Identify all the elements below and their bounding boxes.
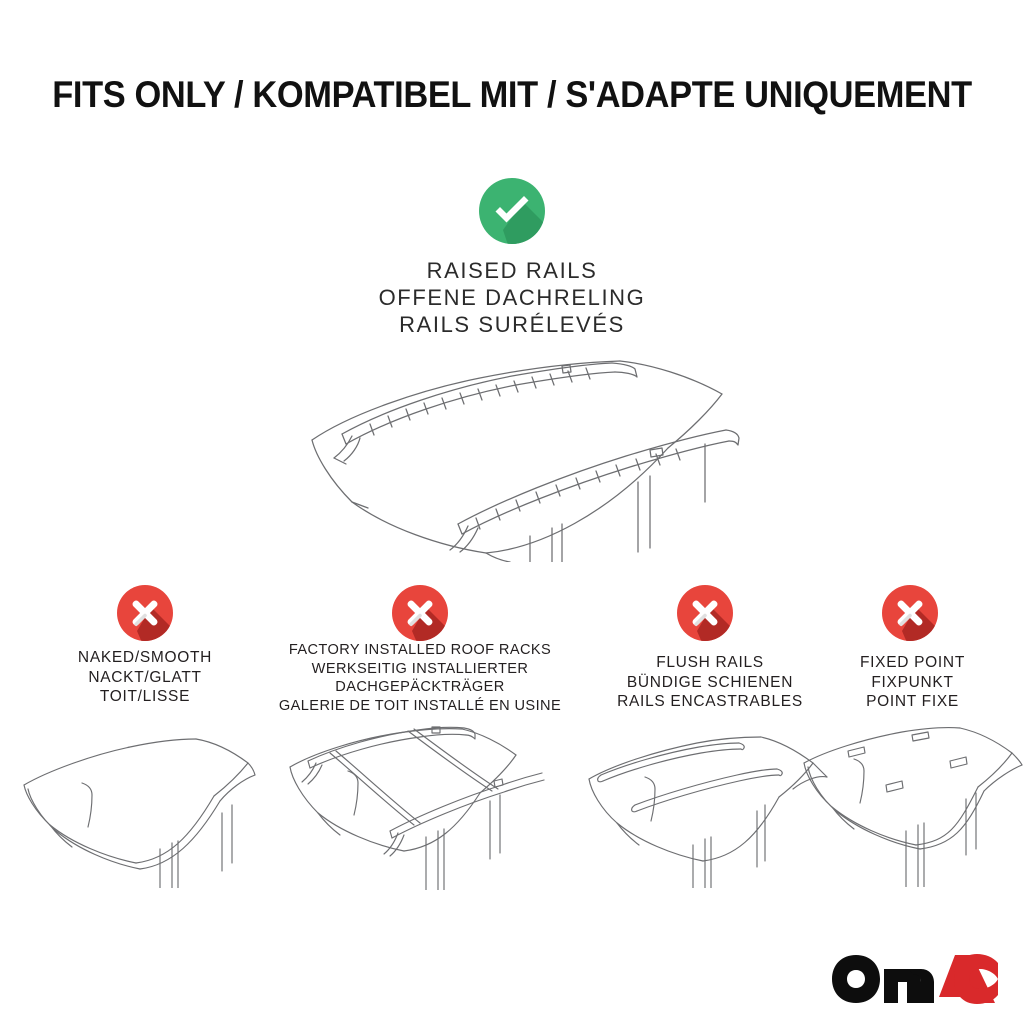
cross-circle-icon-4 bbox=[882, 585, 938, 641]
car-roof-raised-rails-illustration bbox=[290, 352, 740, 562]
incompatible-label-4: FIXED POINT FIXPUNKT POINT FIXE bbox=[825, 653, 1000, 712]
cross-circle-icon-2 bbox=[392, 585, 448, 641]
car-roof-factory-racks-illustration bbox=[268, 725, 548, 890]
cross-circle-icon-1 bbox=[117, 585, 173, 641]
incompatible-label-3: FLUSH RAILS BÜNDIGE SCHIENEN RAILS ENCAS… bbox=[595, 653, 825, 712]
car-roof-naked-smooth-illustration bbox=[0, 733, 260, 888]
compatible-label: RAISED RAILS OFFENE DACHRELING RAILS SUR… bbox=[262, 258, 762, 338]
omac-logo bbox=[830, 953, 1000, 1010]
fitment-compatibility-graphic: FITS ONLY / KOMPATIBEL MIT / S'ADAPTE UN… bbox=[0, 0, 1024, 1024]
incompatible-label-1: NAKED/SMOOTH NACKT/GLATT TOIT/LISSE bbox=[35, 648, 255, 707]
incompatible-label-2: FACTORY INSTALLED ROOF RACKS WERKSEITIG … bbox=[255, 641, 585, 715]
cross-circle-icon-3 bbox=[677, 585, 733, 641]
check-circle-icon bbox=[479, 178, 545, 244]
page-title: FITS ONLY / KOMPATIBEL MIT / S'ADAPTE UN… bbox=[36, 74, 988, 116]
car-roof-fixed-point-illustration bbox=[790, 727, 1024, 887]
